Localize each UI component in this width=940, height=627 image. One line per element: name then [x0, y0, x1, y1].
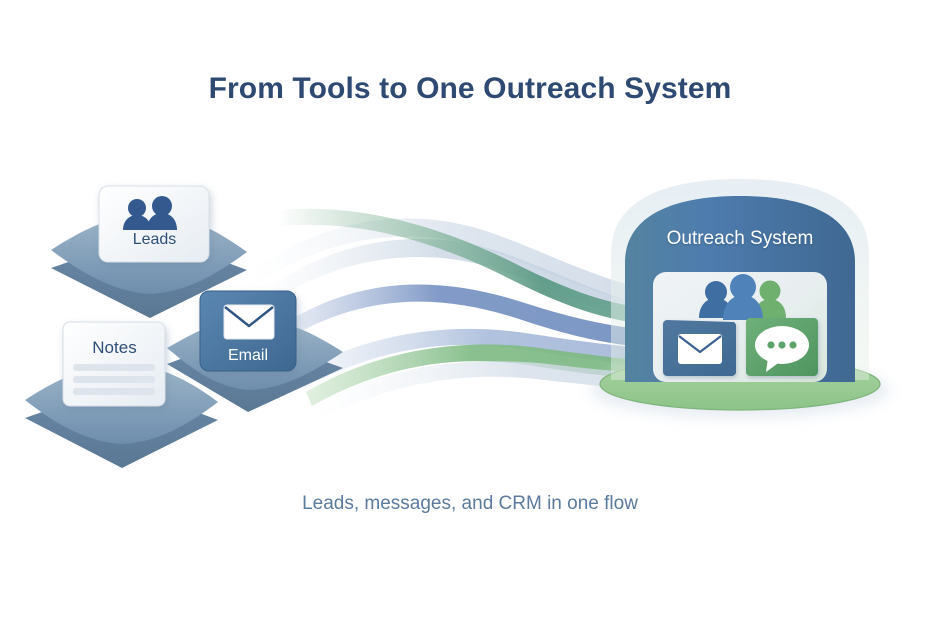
page-subtitle: Leads, messages, and CRM in one flow: [0, 493, 940, 515]
mail-tile[interactable]: [663, 320, 736, 376]
note-lines-icon: [73, 364, 155, 395]
chat-tile[interactable]: [746, 318, 818, 376]
illustration-canvas: From Tools to One Outreach System Leads,…: [0, 0, 940, 627]
page-title: From Tools to One Outreach System: [0, 72, 940, 106]
envelope-icon: [224, 305, 274, 339]
node-outreach-system[interactable]: [590, 179, 890, 418]
